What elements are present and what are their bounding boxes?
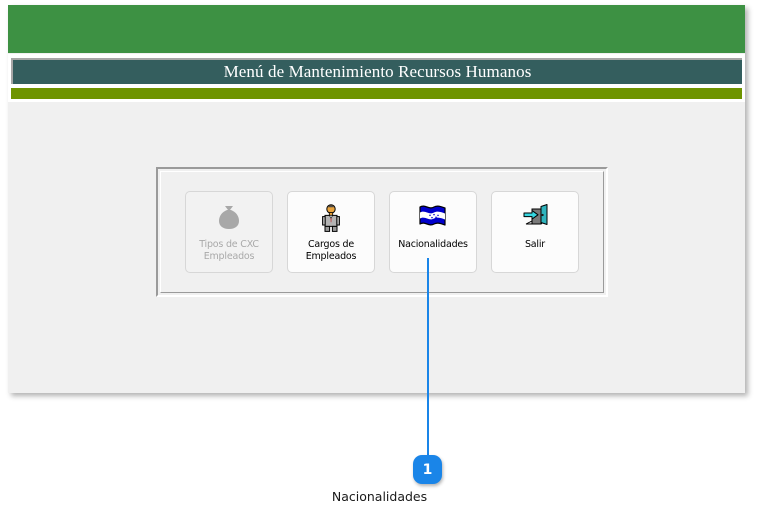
page-title: Menú de Mantenimiento Recursos Humanos [224, 62, 532, 82]
green-header-banner [8, 5, 745, 53]
exit-door-icon [518, 201, 552, 235]
button-label: Tipos de CXC Empleados [199, 239, 259, 262]
businessman-icon [314, 201, 348, 235]
client-work-area: Tipos de CXC Empleados [8, 102, 745, 393]
button-row: Tipos de CXC Empleados [158, 169, 606, 295]
button-nacionalidades[interactable]: Nacionalidades [389, 191, 477, 273]
application-window: Menú de Mantenimiento Recursos Humanos T… [8, 5, 745, 393]
callout-connector-line [427, 258, 429, 458]
button-label: Cargos de Empleados [306, 239, 357, 262]
button-label: Nacionalidades [398, 239, 468, 251]
button-cargos-de-empleados[interactable]: Cargos de Empleados [287, 191, 375, 273]
button-tipos-de-cxc-empleados[interactable]: Tipos de CXC Empleados [185, 191, 273, 273]
title-bar-container: Menú de Mantenimiento Recursos Humanos [8, 54, 745, 86]
money-bag-icon [212, 201, 246, 235]
olive-accent-bar [11, 88, 742, 99]
buttons-group-panel: Tipos de CXC Empleados [156, 167, 608, 297]
honduras-flag-icon [416, 201, 450, 235]
callout-badge-1[interactable]: 1 [413, 455, 442, 484]
window-title-bar: Menú de Mantenimiento Recursos Humanos [11, 58, 742, 84]
button-salir[interactable]: Salir [491, 191, 579, 273]
button-label: Salir [525, 239, 545, 251]
callout-caption: Nacionalidades [0, 489, 759, 504]
